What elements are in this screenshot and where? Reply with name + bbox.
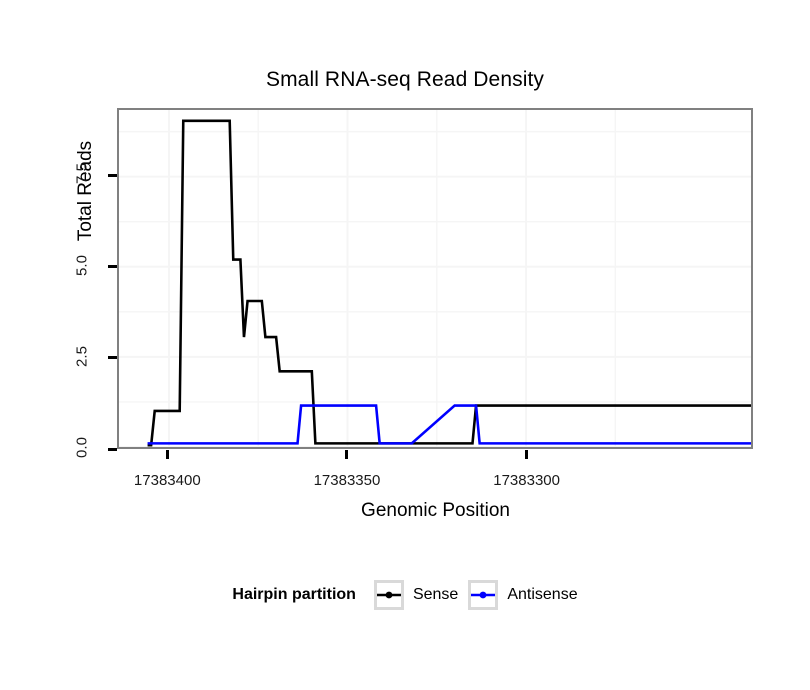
series-lines — [119, 110, 751, 447]
legend-key-sense-icon — [374, 580, 404, 610]
chart-title: Small RNA-seq Read Density — [0, 68, 810, 92]
legend-label: Antisense — [507, 586, 577, 604]
x-tick-mark — [345, 450, 348, 459]
legend-label: Sense — [413, 586, 458, 604]
series-line-sense — [148, 121, 751, 445]
y-tick-mark — [108, 174, 117, 177]
legend-entry-antisense[interactable]: Antisense — [468, 580, 577, 610]
legend-entries: SenseAntisense — [374, 580, 578, 610]
legend-key-antisense-icon — [468, 580, 498, 610]
x-tick-mark — [525, 450, 528, 459]
x-tick-label: 17383400 — [107, 472, 227, 489]
y-tick-mark — [108, 448, 117, 451]
series-line-antisense — [148, 406, 751, 444]
chart-container: Small RNA-seq Read Density Total Reads 0… — [0, 0, 810, 690]
y-tick-label: 0.0 — [74, 426, 91, 470]
y-tick-mark — [108, 356, 117, 359]
x-tick-label: 17383350 — [287, 472, 407, 489]
x-axis-title: Genomic Position — [117, 500, 754, 522]
x-tick-label: 17383300 — [467, 472, 587, 489]
legend-title: Hairpin partition — [232, 586, 356, 604]
legend-entry-sense[interactable]: Sense — [374, 580, 458, 610]
y-tick-label: 2.5 — [74, 334, 91, 378]
x-tick-mark — [166, 450, 169, 459]
y-tick-mark — [108, 265, 117, 268]
y-tick-label: 7.5 — [74, 152, 91, 196]
y-tick-label: 5.0 — [74, 243, 91, 287]
plot-panel — [117, 108, 753, 449]
legend: Hairpin partition SenseAntisense — [0, 580, 810, 610]
